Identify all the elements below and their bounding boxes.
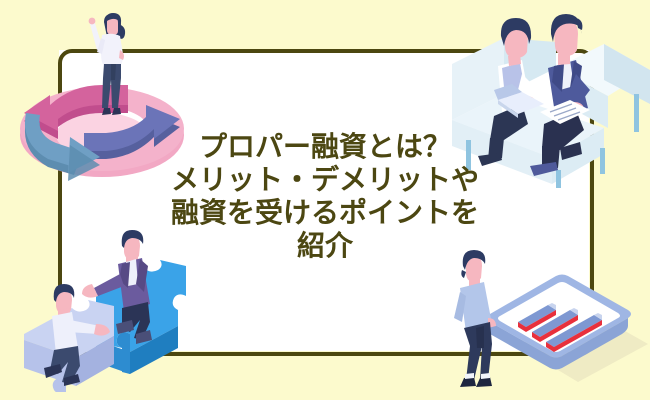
- chart-board-illustration: [440, 248, 650, 400]
- page-title: プロパー融資とは？ メリット・デメリットや 融資を受けるポイントを 紹介: [0, 130, 650, 262]
- woman-raising-hand-illustration: [74, 8, 136, 128]
- article-banner: プロパー融資とは？ メリット・デメリットや 融資を受けるポイントを 紹介: [0, 0, 650, 400]
